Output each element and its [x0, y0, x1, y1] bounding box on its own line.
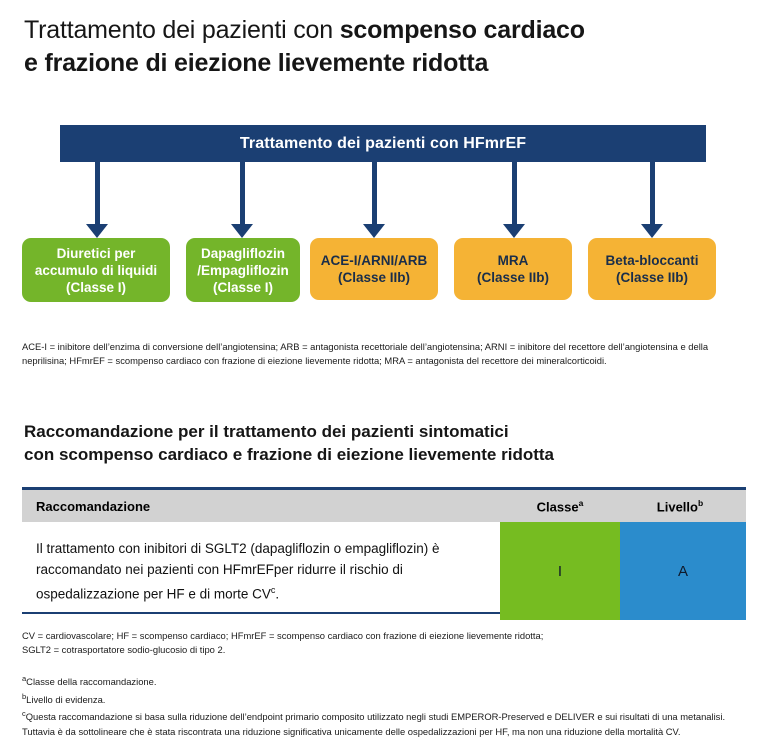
column-header-level: Livellob: [620, 498, 740, 514]
recommendation-text: Il trattamento con inibitori di SGLT2 (d…: [36, 541, 439, 602]
arrowhead-2: [231, 224, 253, 238]
footnote-b: bLivello di evidenza.: [22, 690, 746, 708]
flow-node-label-3: ACE-I/ARNI/ARB (Classe IIb): [321, 252, 428, 286]
table-abbreviations: CV = cardiovascolare; HF = scompenso car…: [22, 629, 746, 657]
arrowhead-4: [503, 224, 525, 238]
level-value-cell: A: [620, 522, 746, 620]
connector-line-3: [372, 162, 377, 224]
column-header-level-superscript: b: [698, 498, 703, 508]
arrowhead-3: [363, 224, 385, 238]
class-value: I: [558, 563, 562, 580]
treatment-flowchart: Trattamento dei pazienti con HFmrEF Diur…: [0, 125, 768, 315]
column-header-recommendation: Raccomandazione: [22, 499, 500, 514]
recommendation-table: Raccomandazione Classea Livellob Il trat…: [22, 487, 746, 620]
footnote-b-text: Livello di evidenza.: [26, 694, 105, 705]
flow-node-dapagliflozin-empagliflozin[interactable]: Dapagliflozin /Empagliflozin (Classe I): [186, 238, 300, 302]
column-header-class-superscript: a: [579, 498, 584, 508]
footnote-c: cQuesta raccomandazione si basa sulla ri…: [22, 707, 746, 739]
page-title-bold-2: e frazione di eiezione lievemente ridott…: [24, 49, 488, 77]
level-value: A: [678, 563, 688, 580]
recommendation-text-cell: Il trattamento con inibitori di SGLT2 (d…: [22, 522, 500, 614]
table-row: Il trattamento con inibitori di SGLT2 (d…: [22, 522, 746, 620]
section-heading: Raccomandazione per il trattamento dei p…: [24, 420, 724, 466]
column-header-class: Classea: [500, 498, 620, 514]
flow-node-label-1: Diuretici per accumulo di liquidi (Class…: [35, 245, 157, 296]
arrowhead-5: [641, 224, 663, 238]
page-title-regular: Trattamento dei pazienti con: [24, 16, 340, 44]
table-abbreviations-line1: CV = cardiovascolare; HF = scompenso car…: [22, 630, 543, 641]
flow-node-label-5: Beta-bloccanti (Classe IIb): [605, 252, 698, 286]
footnote-c-text: Questa raccomandazione si basa sulla rid…: [22, 711, 725, 737]
connector-line-1: [95, 162, 100, 224]
arrowhead-1: [86, 224, 108, 238]
flow-node-beta-bloccanti[interactable]: Beta-bloccanti (Classe IIb): [588, 238, 716, 300]
column-header-level-text: Livello: [657, 499, 698, 514]
section-heading-line1: Raccomandazione per il trattamento dei p…: [24, 422, 509, 441]
table-header-row: Raccomandazione Classea Livellob: [22, 487, 746, 522]
connector-line-4: [512, 162, 517, 224]
connector-line-2: [240, 162, 245, 224]
flowchart-header-bar: Trattamento dei pazienti con HFmrEF: [60, 125, 706, 162]
flow-node-diuretici[interactable]: Diuretici per accumulo di liquidi (Class…: [22, 238, 170, 302]
footnote-a-text: Classe della raccomandazione.: [26, 676, 156, 687]
page-title-bold-1: scompenso cardiaco: [340, 16, 585, 44]
connector-line-5: [650, 162, 655, 224]
flow-node-label-4: MRA (Classe IIb): [477, 252, 549, 286]
flow-node-ace-i-arni-arb[interactable]: ACE-I/ARNI/ARB (Classe IIb): [310, 238, 438, 300]
flow-node-label-2: Dapagliflozin /Empagliflozin (Classe I): [197, 245, 289, 296]
footnote-list: aClasse della raccomandazione. bLivello …: [22, 672, 746, 739]
recommendation-text-end: .: [275, 587, 279, 602]
section-heading-line2: con scompenso cardiaco e frazione di eie…: [24, 445, 554, 464]
class-value-cell: I: [500, 522, 620, 620]
footnote-a: aClasse della raccomandazione.: [22, 672, 746, 690]
column-header-class-text: Classe: [537, 499, 579, 514]
flowchart-header-label: Trattamento dei pazienti con HFmrEF: [240, 135, 526, 153]
flow-node-mra[interactable]: MRA (Classe IIb): [454, 238, 572, 300]
page-title: Trattamento dei pazienti con scompenso c…: [24, 14, 740, 80]
table-abbreviations-line2: SGLT2 = cotrasportatore sodio-glucosio d…: [22, 644, 225, 655]
flowchart-abbreviations: ACE-I = inibitore dell’enzima di convers…: [22, 340, 746, 368]
